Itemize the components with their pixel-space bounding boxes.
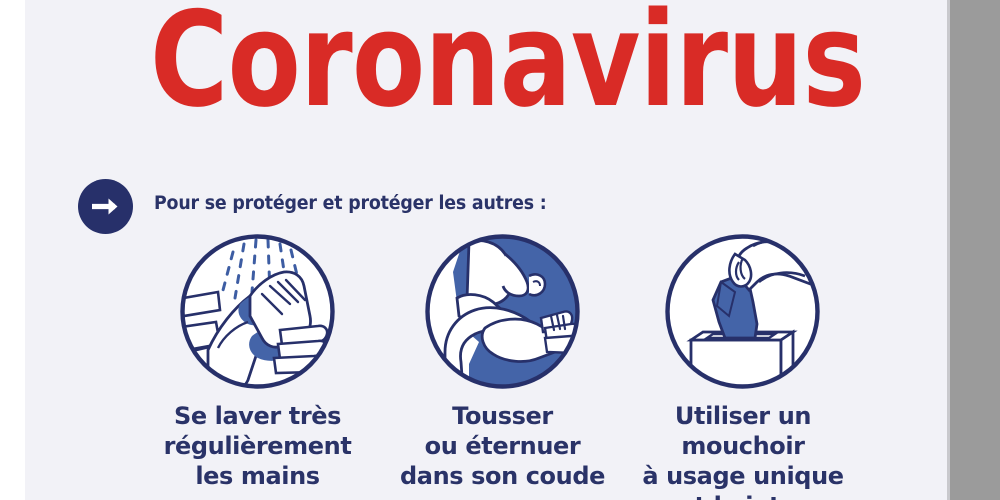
coronavirus-poster: Coronavirus Pour se protéger et protéger… <box>0 0 1000 500</box>
right-gray-bar <box>950 0 1000 500</box>
arrow-right-icon <box>78 179 133 234</box>
tip-caption: Se laver très régulièrement les mains <box>150 401 365 491</box>
page-title: Coronavirus <box>150 0 721 125</box>
tip-item: Se laver très régulièrement les mains <box>150 232 365 491</box>
tip-item: Tousser ou éternuer dans son coude <box>395 232 610 491</box>
tip-caption: Utiliser un mouchoir à usage unique et l… <box>628 401 858 500</box>
poster-subtitle: Pour se protéger et protéger les autres … <box>154 193 547 215</box>
tip-item: Utiliser un mouchoir à usage unique et l… <box>635 232 850 500</box>
hand-washing-icon <box>178 232 337 391</box>
cough-into-elbow-icon <box>423 232 582 391</box>
single-use-tissue-icon <box>663 232 822 391</box>
left-white-margin <box>0 0 25 500</box>
prevention-tips-group: Se laver très régulièrement les mains <box>150 232 850 500</box>
tip-caption: Tousser ou éternuer dans son coude <box>395 401 610 491</box>
